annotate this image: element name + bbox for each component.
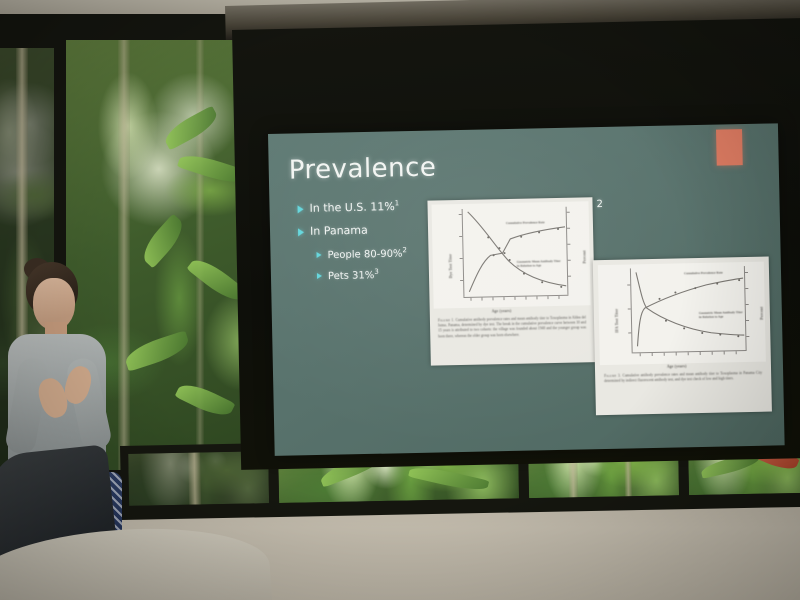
figure-1-xlabel: Age (years) bbox=[492, 309, 512, 313]
figure-3-caption: Figure 3. Cumulative antibody prevalence… bbox=[604, 371, 762, 385]
figure-1-series-label-titer: Geometric Mean Antibody Titer in Relatio… bbox=[517, 259, 561, 268]
figure-3-caption-lead: Figure 3. bbox=[604, 374, 621, 378]
triangle-bullet-icon bbox=[298, 229, 304, 237]
figure-1: Dye Test Titer Percent Cumulative Preval… bbox=[427, 197, 595, 365]
bullet-label: In the U.S. 11%1 bbox=[309, 199, 399, 215]
bullet-label: In Panama bbox=[310, 223, 368, 239]
figure-3-ylabel-left: IFA Test Titer bbox=[615, 309, 620, 333]
figure-1-caption: Figure 1. Cumulative antibody prevalence… bbox=[438, 315, 586, 339]
figure-1-ylabel-left: Dye Test Titer bbox=[449, 254, 454, 279]
figure-1-ylabel-right: Percent bbox=[583, 250, 587, 263]
reference-marker: 2 bbox=[596, 199, 603, 210]
accent-square bbox=[716, 129, 743, 166]
bullet-label: People 80-90%2 bbox=[327, 246, 407, 261]
figure-1-caption-text: Cumulative antibody prevalence rates and… bbox=[438, 315, 586, 338]
triangle-bullet-icon bbox=[317, 273, 322, 279]
figure-1-caption-lead: Figure 1. bbox=[438, 318, 455, 322]
figure-3-xlabel: Age (years) bbox=[667, 364, 687, 368]
slide-title: Prevalence bbox=[288, 152, 436, 185]
figure-3-caption-text: Cumulative antibody prevalence rates and… bbox=[604, 371, 762, 384]
figure-3: IFA Test Titer Percent Cumulative Preval… bbox=[593, 257, 772, 416]
triangle-bullet-icon bbox=[298, 205, 304, 213]
presentation-slide: Prevalence In the U.S. 11%1 In Panama Pe… bbox=[268, 123, 785, 456]
triangle-bullet-icon bbox=[316, 251, 321, 257]
figure-3-series-label-titer: Geometric Mean Antibody Titer in Relatio… bbox=[699, 310, 745, 319]
figure-3-ylabel-right: Percent bbox=[760, 307, 764, 320]
photo-scene: Prevalence In the U.S. 11%1 In Panama Pe… bbox=[0, 0, 800, 600]
bullet-label: Pets 31%3 bbox=[328, 268, 379, 283]
